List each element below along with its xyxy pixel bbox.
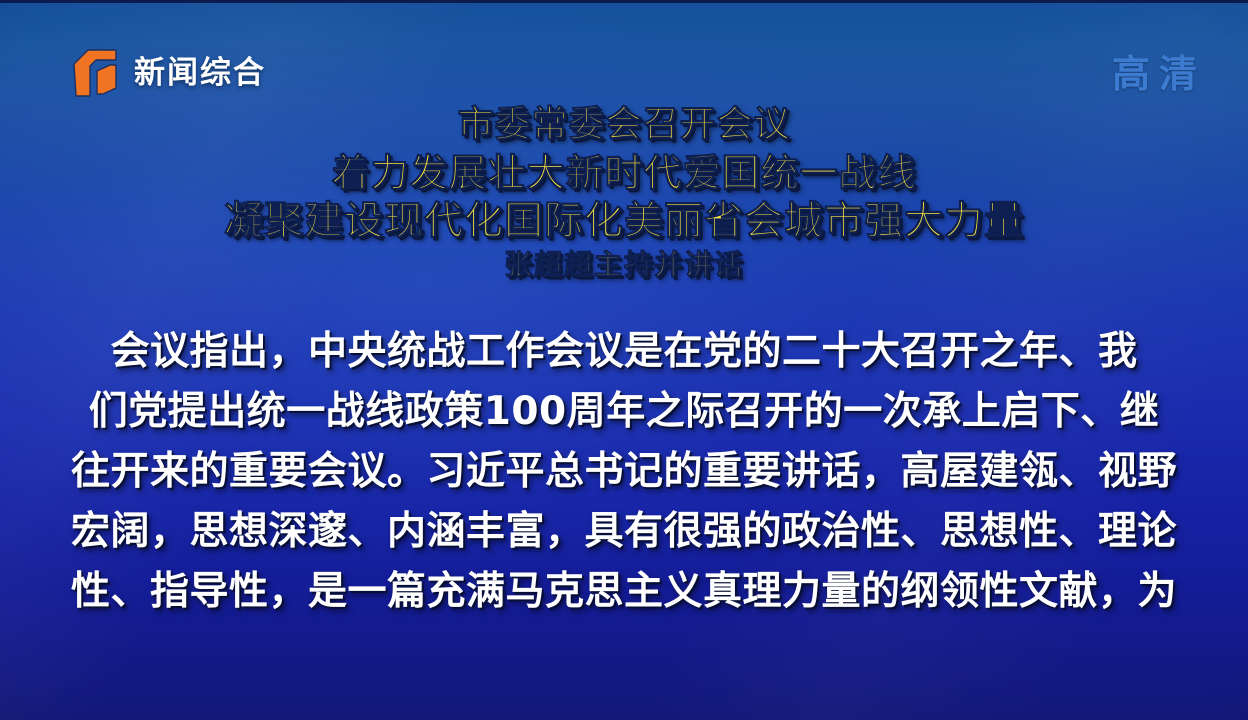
headline-block: 市委常委会召开会议 着力发展壮大新时代爱国统一战线 凝聚建设现代化国际化美丽省会… [0,106,1248,279]
body-text-block: 会议指出，中央统战工作会议是在党的二十大召开之年、我 们党提出统一战线政策100… [0,322,1248,622]
headline-line-3: 凝聚建设现代化国际化美丽省会城市强大力量 [0,201,1248,242]
body-text-line: 宏阔，思想深邃、内涵丰富，具有很强的政治性、思想性、理论 [0,502,1248,562]
channel-logo-icon [66,44,120,102]
body-text-line: 性、指导性，是一篇充满马克思主义真理力量的纲领性文献，为 [0,562,1248,622]
body-text-line: 们党提出统一战线政策100周年之际召开的一次承上启下、继 [0,382,1248,442]
hd-quality-badge: 高清 [1112,55,1206,93]
headline-subtitle: 张超超主持并讲话 [0,250,1248,280]
body-text-line: 往开来的重要会议。习近平总书记的重要讲话，高屋建瓴、视野 [0,442,1248,502]
headline-line-1: 市委常委会召开会议 [0,106,1248,144]
channel-bug: 新闻综合 [66,44,266,102]
broadcast-screen: 新闻综合 高清 市委常委会召开会议 着力发展壮大新时代爱国统一战线 凝聚建设现代… [0,0,1248,720]
headline-line-2: 着力发展壮大新时代爱国统一战线 [0,153,1248,193]
body-text-line: 会议指出，中央统战工作会议是在党的二十大召开之年、我 [0,322,1248,382]
channel-name-label: 新闻综合 [134,58,266,89]
screen-top-edge [0,0,1248,3]
